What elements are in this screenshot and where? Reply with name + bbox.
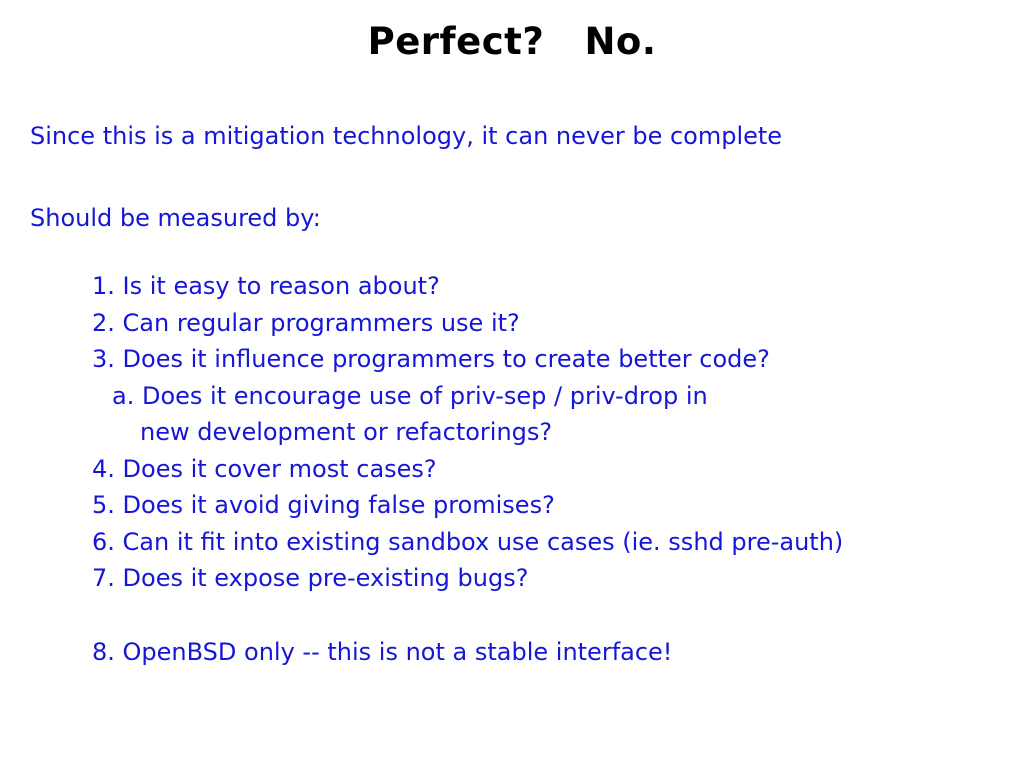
list-item-2: 2. Can regular programmers use it? xyxy=(92,305,990,342)
slide-title: Perfect? No. xyxy=(0,20,1024,63)
list-item-3a: a. Does it encourage use of priv-sep / p… xyxy=(92,378,990,415)
list-item-7: 7. Does it expose pre-existing bugs? xyxy=(92,560,990,597)
criteria-list: 1. Is it easy to reason about? 2. Can re… xyxy=(30,268,990,670)
body-paragraph-2: Should be measured by: xyxy=(30,200,990,236)
paragraph-spacer xyxy=(30,154,990,200)
list-item-8: 8. OpenBSD only -- this is not a stable … xyxy=(92,634,990,671)
list-item-3a-continuation: new development or refactorings? xyxy=(92,414,990,451)
list-spacer xyxy=(92,597,990,634)
slide: Perfect? No. Since this is a mitigation … xyxy=(0,0,1024,768)
list-item-3: 3. Does it influence programmers to crea… xyxy=(92,341,990,378)
slide-body: Since this is a mitigation technology, i… xyxy=(30,118,990,670)
list-item-1: 1. Is it easy to reason about? xyxy=(92,268,990,305)
list-item-5: 5. Does it avoid giving false promises? xyxy=(92,487,990,524)
list-item-6: 6. Can it fit into existing sandbox use … xyxy=(92,524,990,561)
body-paragraph-1: Since this is a mitigation technology, i… xyxy=(30,118,990,154)
list-item-4: 4. Does it cover most cases? xyxy=(92,451,990,488)
